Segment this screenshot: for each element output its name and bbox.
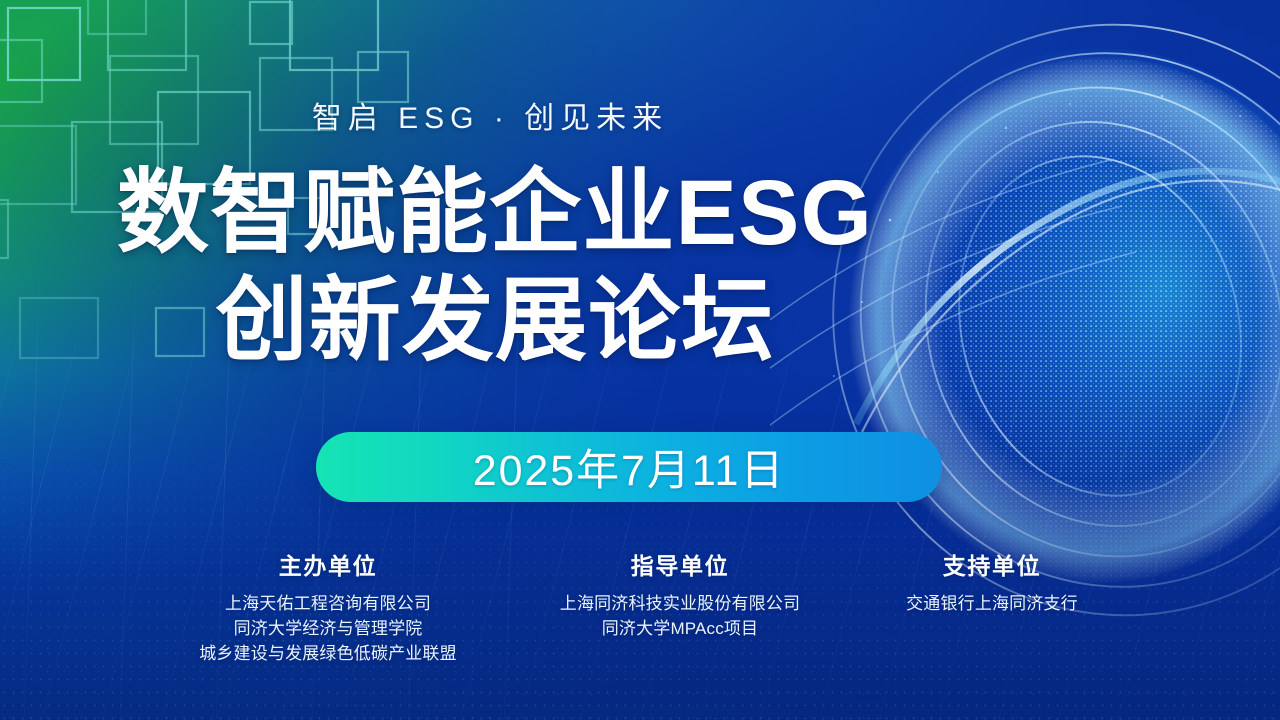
organizer-column-host: 主办单位 上海天佑工程咨询有限公司 同济大学经济与管理学院 城乡建设与发展绿色低… bbox=[128, 547, 528, 667]
event-title-line-2: 创新发展论坛 bbox=[0, 268, 990, 376]
organizer-heading: 支持单位 bbox=[842, 547, 1142, 581]
organizer-column-support: 支持单位 交通银行上海同济支行 bbox=[842, 547, 1142, 617]
organizer-line: 城乡建设与发展绿色低碳产业联盟 bbox=[128, 642, 528, 667]
event-date-text: 2025年7月11日 bbox=[473, 436, 786, 498]
event-date-badge: 2025年7月11日 bbox=[316, 432, 942, 502]
organizer-heading: 主办单位 bbox=[128, 547, 528, 581]
event-subtitle: 智启 ESG · 创见未来 bbox=[0, 93, 1280, 137]
organizer-section: 主办单位 上海天佑工程咨询有限公司 同济大学经济与管理学院 城乡建设与发展绿色低… bbox=[0, 547, 1280, 687]
banner-content: 智启 ESG · 创见未来 数智赋能企业ESG 创新发展论坛 2025年7月11… bbox=[0, 0, 1280, 720]
organizer-line: 同济大学经济与管理学院 bbox=[128, 617, 528, 642]
organizer-line: 上海天佑工程咨询有限公司 bbox=[128, 592, 528, 617]
organizer-column-guidance: 指导单位 上海同济科技实业股份有限公司 同济大学MPAcc项目 bbox=[490, 547, 870, 642]
event-title-line-1: 数智赋能企业ESG bbox=[0, 160, 990, 268]
organizer-line: 上海同济科技实业股份有限公司 bbox=[490, 592, 870, 617]
event-title: 数智赋能企业ESG 创新发展论坛 bbox=[0, 160, 1280, 375]
organizer-heading: 指导单位 bbox=[490, 547, 870, 581]
organizer-line: 交通银行上海同济支行 bbox=[842, 592, 1142, 617]
organizer-line: 同济大学MPAcc项目 bbox=[490, 617, 870, 642]
event-banner: 智启 ESG · 创见未来 数智赋能企业ESG 创新发展论坛 2025年7月11… bbox=[0, 0, 1280, 720]
